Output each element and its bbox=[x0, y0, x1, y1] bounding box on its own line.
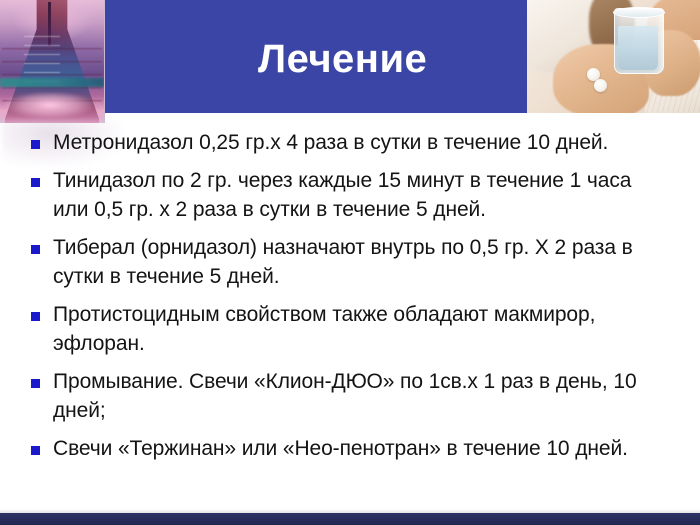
laboratory-flask-photo bbox=[0, 0, 105, 123]
hand-with-pills-and-water-glass-photo bbox=[527, 0, 700, 113]
flask-teal-band bbox=[0, 78, 104, 87]
list-item-text: Метронидазол 0,25 гр.х 4 раза в сутки в … bbox=[53, 128, 653, 157]
list-item: Метронидазол 0,25 гр.х 4 раза в сутки в … bbox=[0, 128, 700, 157]
list-item: Тинидазол по 2 гр. через каждые 15 минут… bbox=[0, 166, 700, 224]
list-item: Тиберал (орнидазол) назначают внутрь по … bbox=[0, 233, 700, 291]
list-item: Промывание. Свечи «Клион-ДЮО» по 1св.х 1… bbox=[0, 367, 700, 425]
square-bullet-icon bbox=[31, 245, 40, 254]
pill-tablet bbox=[594, 79, 607, 92]
treatment-bullet-list: Метронидазол 0,25 гр.х 4 раза в сутки в … bbox=[0, 128, 700, 472]
water-in-glass bbox=[618, 26, 658, 70]
list-item-text: Свечи «Тержинан» или «Нео-пенотран» в те… bbox=[53, 434, 653, 463]
square-bullet-icon bbox=[31, 446, 40, 455]
square-bullet-icon bbox=[31, 140, 40, 149]
flask-pink-glow bbox=[6, 92, 94, 118]
list-item-text: Промывание. Свечи «Клион-ДЮО» по 1св.х 1… bbox=[53, 367, 653, 425]
list-item: Протистоцидным свойством также обладают … bbox=[0, 300, 700, 358]
list-item: Свечи «Тержинан» или «Нео-пенотран» в те… bbox=[0, 434, 700, 463]
square-bullet-icon bbox=[31, 379, 40, 388]
list-item-text: Тиберал (орнидазол) назначают внутрь по … bbox=[53, 233, 653, 291]
square-bullet-icon bbox=[31, 178, 40, 187]
slide-title: Лечение bbox=[258, 30, 518, 88]
list-item-text: Протистоцидным свойством также обладают … bbox=[53, 300, 653, 358]
square-bullet-icon bbox=[31, 312, 40, 321]
water-glass-rim bbox=[613, 7, 665, 18]
list-item-text: Тинидазол по 2 гр. через каждые 15 минут… bbox=[53, 166, 653, 224]
footer-bar bbox=[0, 513, 700, 525]
presentation-slide: Лечение Метронидазол 0,25 гр.х 4 раза в … bbox=[0, 0, 700, 525]
slide-header: Лечение bbox=[0, 0, 700, 113]
